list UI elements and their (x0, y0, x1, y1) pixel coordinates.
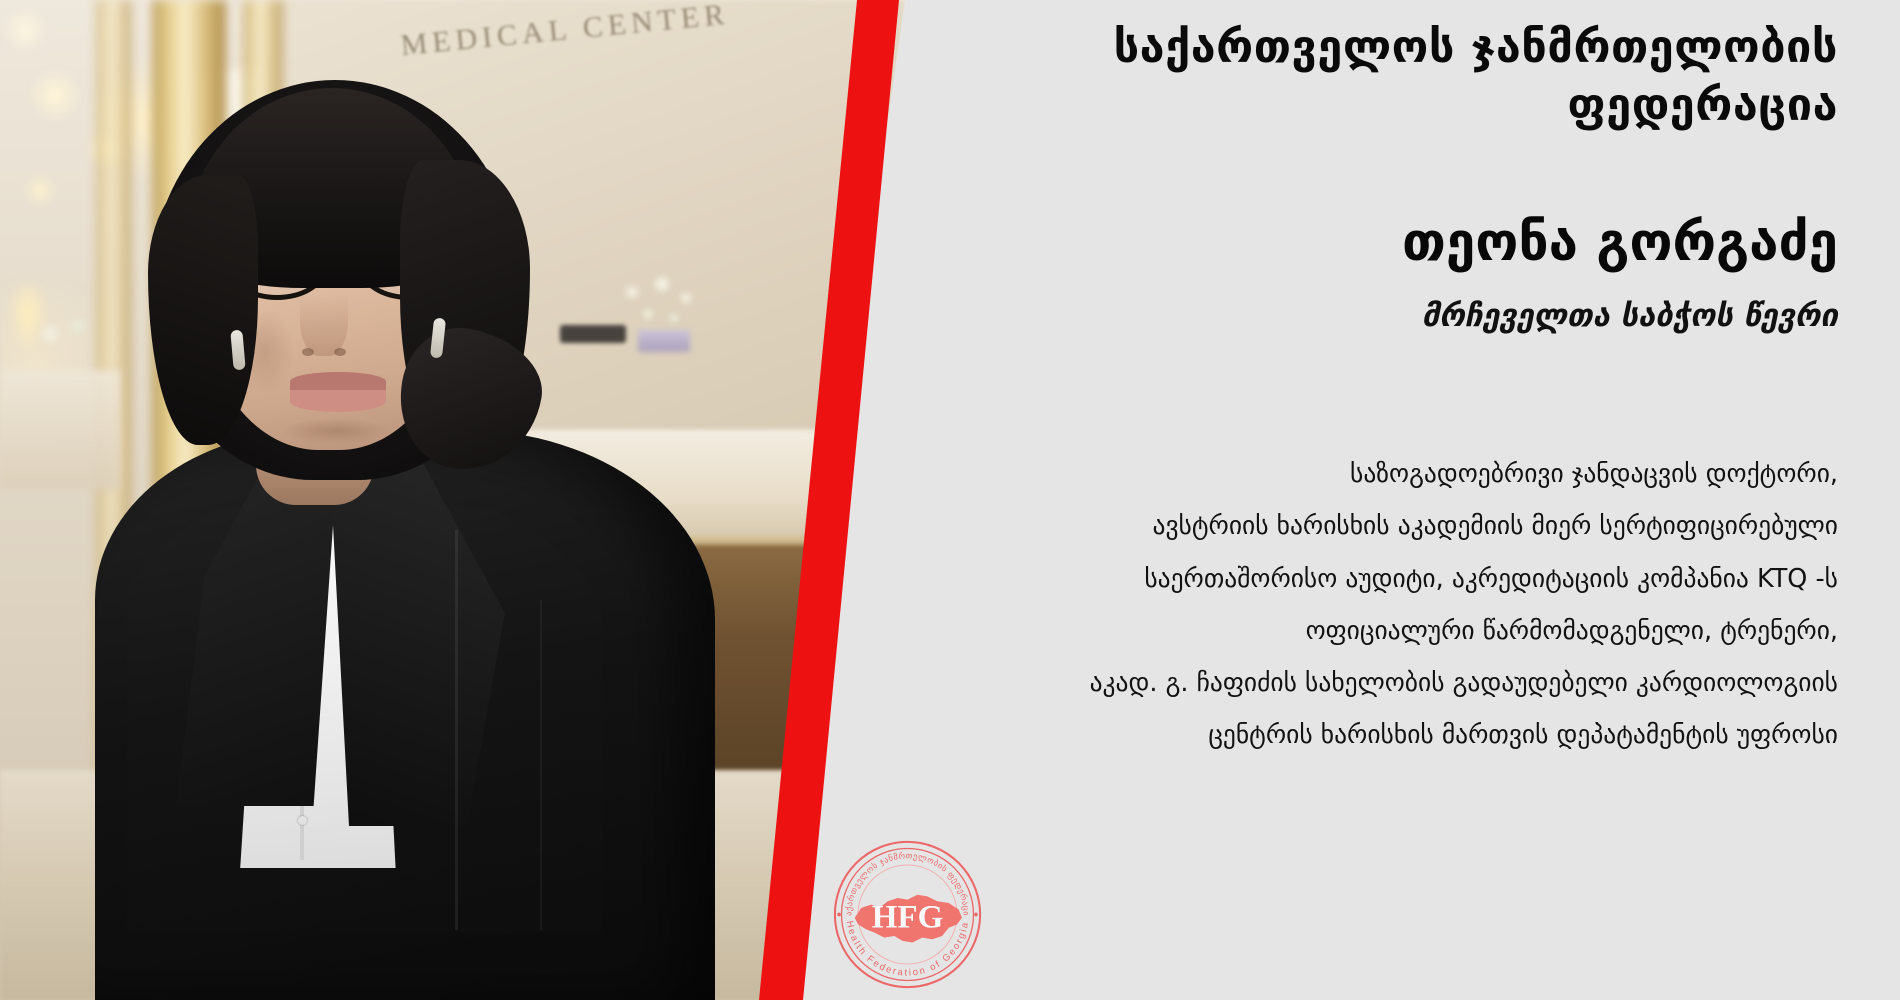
info-panel: საქართველოს ჯანმრთელობის ფედერაცია თეონა… (905, 0, 1900, 1000)
bio-line: ოფიციალური წარმომადგენელი, ტრენერი, (938, 605, 1838, 657)
bio-line: საზოგადოებრივი ჯანდაცვის დოქტორი, (938, 448, 1838, 500)
speaker-role: მრჩეველთა საბჭოს წევრი (958, 298, 1838, 334)
speaker-name: თეონა გორგაძე (958, 212, 1838, 273)
bio-line: ავსტრიის ხარისხის აკადემიის მიერ სერტიფი… (938, 500, 1838, 552)
organization-title-line-1: საქართველოს ჯანმრთელობის (958, 18, 1838, 76)
speaker-photo: MEDICAL CENTER (0, 0, 905, 1000)
blazer-seam (455, 530, 458, 930)
speaker-announcement-poster: MEDICAL CENTER (0, 0, 1900, 1000)
chin-shadow (280, 418, 390, 444)
blazer-seam (540, 600, 542, 930)
shirt-button (298, 816, 307, 825)
nostril (334, 348, 346, 356)
lower-lip (290, 390, 386, 412)
nostril (302, 348, 314, 356)
bio-line: აკად. გ. ჩაფიძის სახელობის გადაუდებელი კ… (938, 657, 1838, 709)
bio-line: საერთაშორისო აუდიტი, აკრედიტაციის კომპან… (938, 553, 1838, 605)
stamp-separator-dot (974, 913, 978, 917)
hair-left (148, 175, 258, 445)
lips (290, 372, 386, 412)
hfg-stamp-logo: HFG Health Federation of Georgia საქართვ… (825, 832, 990, 997)
speaker-bio: საზოგადოებრივი ჯანდაცვის დოქტორი, ავსტრი… (938, 448, 1838, 762)
person-figure (0, 0, 905, 1000)
bio-line: ცენტრის ხარისხის მართვის დეპატამენტის უფ… (938, 709, 1838, 761)
stamp-monogram: HFG (872, 900, 944, 936)
upper-lip (290, 372, 386, 391)
organization-title: საქართველოს ჯანმრთელობის ფედერაცია (958, 18, 1838, 133)
organization-title-line-2: ფედერაცია (958, 76, 1838, 134)
stamp-separator-dot (837, 913, 841, 917)
